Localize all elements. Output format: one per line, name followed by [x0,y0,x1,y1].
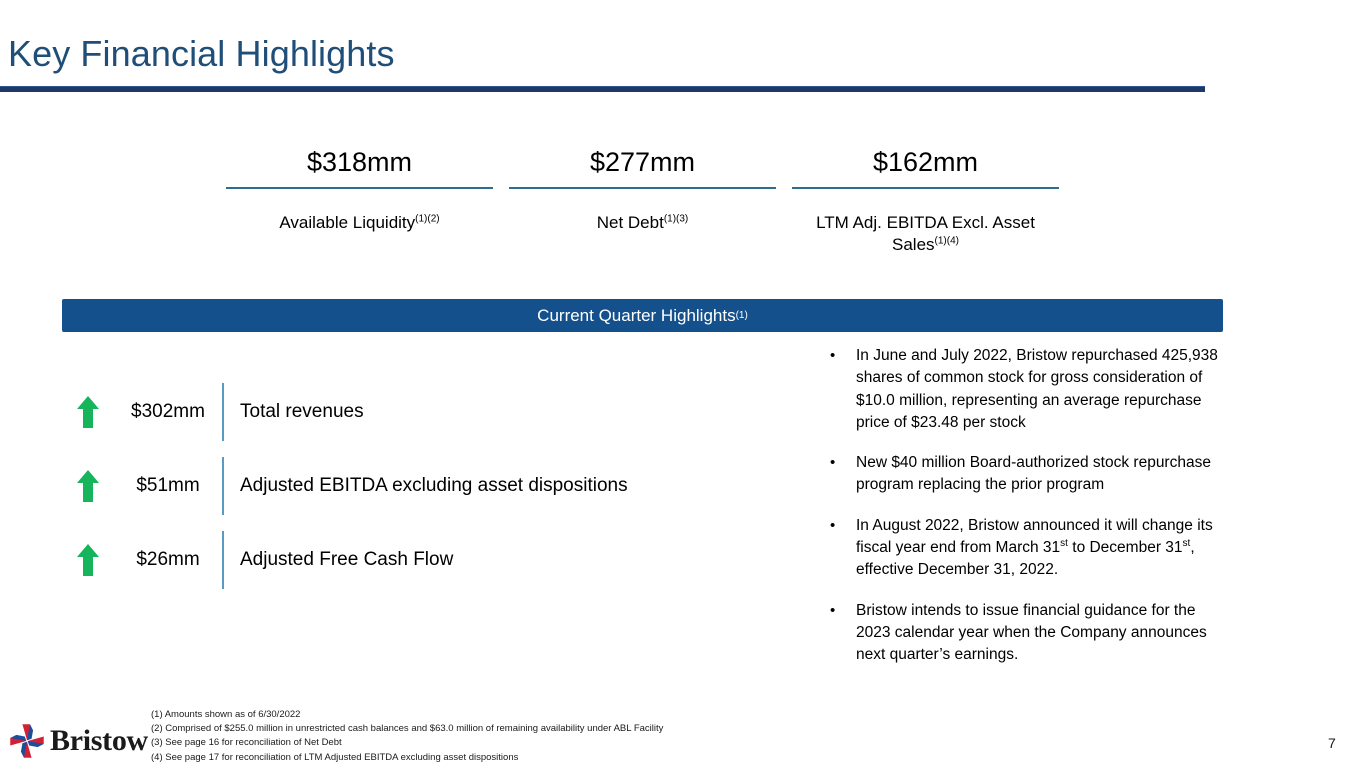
metric-amount: $51mm [114,475,222,497]
bullet-text-part: New $40 million Board-authorized stock r… [856,454,1211,493]
bullet-text: In June and July 2022, Bristow repurchas… [856,345,1226,434]
footnote-line: (4) See page 17 for reconciliation of LT… [151,751,851,765]
kpi-footnote-ref: (1)(2) [415,213,439,224]
kpi-value: $318mm [307,142,412,182]
bullet-text: Bristow intends to issue financial guida… [856,600,1226,667]
metric-row: $51mmAdjusted EBITDA excluding asset dis… [62,449,802,523]
metric-list: $302mmTotal revenues$51mmAdjusted EBITDA… [62,375,802,597]
metric-description: Adjusted Free Cash Flow [224,549,453,571]
metric-row: $302mmTotal revenues [62,375,802,449]
current-quarter-highlights-banner: Current Quarter Highlights(1) [62,299,1223,332]
bullet-item: •New $40 million Board-authorized stock … [826,452,1226,497]
banner-title: Current Quarter Highlights [537,306,735,326]
bullet-text-part: In June and July 2022, Bristow repurchas… [856,347,1218,431]
kpi-label-text: Net Debt [597,213,664,232]
kpi-rule [792,187,1059,189]
footnotes: (1) Amounts shown as of 6/30/2022(2) Com… [151,708,851,765]
bullet-marker: • [826,345,856,434]
metric-description: Total revenues [224,401,364,423]
arrow-up-icon [62,469,114,503]
bullet-marker: • [826,452,856,497]
metric-row: $26mmAdjusted Free Cash Flow [62,523,802,597]
bullet-marker: • [826,600,856,667]
bullet-text: In August 2022, Bristow announced it wil… [856,515,1226,582]
kpi-cell: $277mmNet Debt(1)(3) [509,142,776,256]
metric-amount: $302mm [114,401,222,423]
kpi-rule [509,187,776,189]
bullet-superscript: st [1060,538,1068,549]
metric-amount: $26mm [114,549,222,571]
kpi-value: $162mm [873,142,978,182]
bullet-marker: • [826,515,856,582]
kpi-row: $318mmAvailable Liquidity(1)(2)$277mmNet… [226,142,1060,256]
bristow-logo: Bristow [8,722,148,760]
bristow-pinwheel-icon [8,722,46,760]
bullet-text: New $40 million Board-authorized stock r… [856,452,1226,497]
kpi-label: Net Debt(1)(3) [597,212,689,234]
page-title: Key Financial Highlights [8,33,395,75]
kpi-label: Available Liquidity(1)(2) [279,212,439,234]
kpi-label-text: Available Liquidity [279,213,415,232]
arrow-up-icon [62,543,114,577]
bullet-item: •Bristow intends to issue financial guid… [826,600,1226,667]
footnote-line: (2) Comprised of $255.0 million in unres… [151,722,851,736]
logo-wordmark: Bristow [50,722,148,760]
title-underline-rule [0,86,1205,92]
kpi-value: $277mm [590,142,695,182]
bullet-item: •In June and July 2022, Bristow repurcha… [826,345,1226,434]
page-number: 7 [1328,735,1336,751]
kpi-footnote-ref: (1)(4) [935,235,959,246]
kpi-label: LTM Adj. EBITDA Excl. Asset Sales(1)(4) [792,212,1059,256]
metric-description: Adjusted EBITDA excluding asset disposit… [224,475,628,497]
kpi-cell: $162mmLTM Adj. EBITDA Excl. Asset Sales(… [792,142,1059,256]
kpi-rule [226,187,493,189]
bullet-text-part: to December 31 [1068,539,1183,556]
highlights-bullet-list: •In June and July 2022, Bristow repurcha… [826,345,1226,685]
footnote-line: (3) See page 16 for reconciliation of Ne… [151,736,851,750]
bullet-item: •In August 2022, Bristow announced it wi… [826,515,1226,582]
footnote-line: (1) Amounts shown as of 6/30/2022 [151,708,851,722]
kpi-cell: $318mmAvailable Liquidity(1)(2) [226,142,493,256]
kpi-footnote-ref: (1)(3) [664,213,688,224]
bullet-text-part: Bristow intends to issue financial guida… [856,602,1207,664]
arrow-up-icon [62,395,114,429]
kpi-label-text: LTM Adj. EBITDA Excl. Asset Sales [816,213,1035,254]
